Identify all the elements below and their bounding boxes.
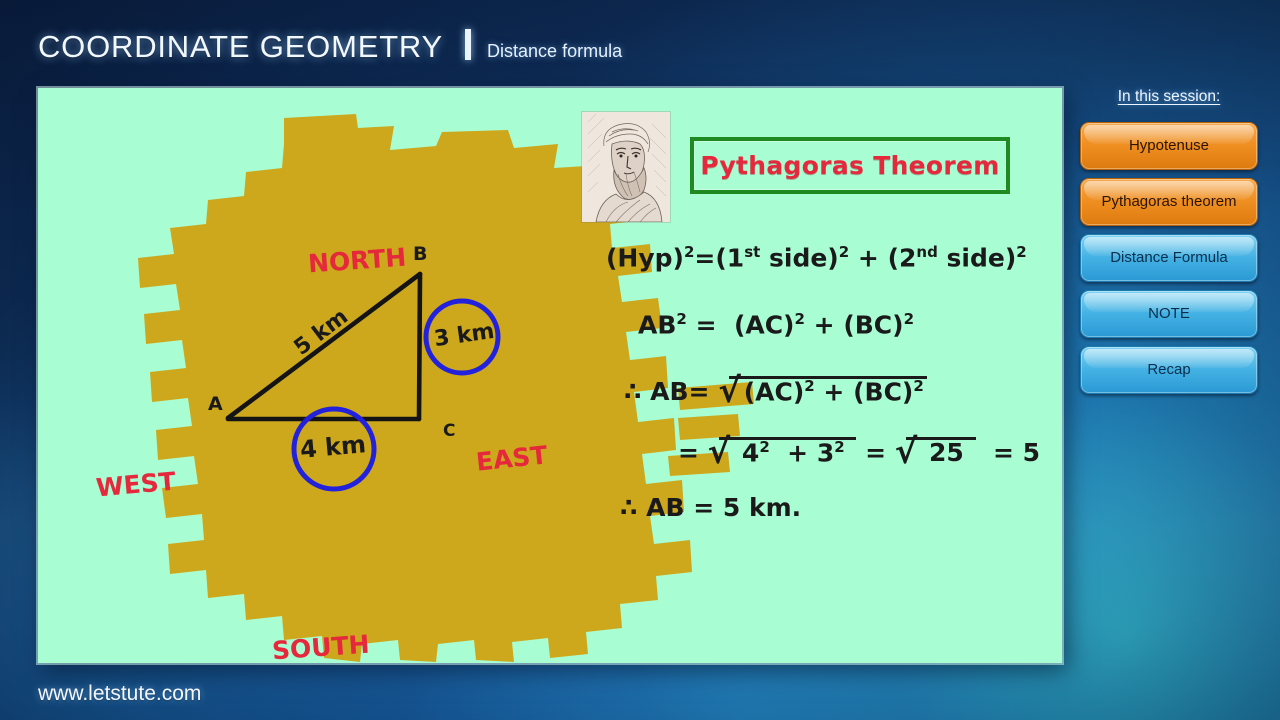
eq4-plus: + xyxy=(787,438,808,467)
eq3-r2: (BC) xyxy=(853,377,913,406)
equation-line-1: (Hyp)2=(1st side)2 + (2nd side)2 xyxy=(606,243,1027,272)
vertical-bar-icon xyxy=(465,29,471,60)
eq2-plus: + xyxy=(814,310,835,339)
equation-line-3: ∴ AB= √(AC)2 + (BC)2 xyxy=(624,375,927,406)
eq4-a: 4 xyxy=(742,438,759,467)
sidebar-item-label: Recap xyxy=(1141,358,1196,382)
eq1-t1-exp: st xyxy=(744,243,760,261)
eq2-t1-exp: 2 xyxy=(794,310,804,328)
vertex-label-a: A xyxy=(208,393,223,415)
eq3-lhs: AB xyxy=(650,377,688,406)
header-title-group: COORDINATE GEOMETRY Distance formula xyxy=(38,26,622,65)
eq1-lhs-exp: 2 xyxy=(684,243,694,261)
theorem-title-text: Pythagoras Theorem xyxy=(694,141,1006,190)
page-title: COORDINATE GEOMETRY xyxy=(38,29,443,65)
eq3-r1-exp: 2 xyxy=(804,377,814,395)
pythagoras-portrait xyxy=(582,112,670,222)
eq4-equals-2: = xyxy=(865,438,886,467)
sidebar-item-recap[interactable]: Recap xyxy=(1080,346,1258,394)
eq1-lhs: (Hyp) xyxy=(606,243,684,272)
theorem-title-box: Pythagoras Theorem xyxy=(690,137,1010,194)
vertex-label-c: C xyxy=(443,421,455,441)
eq4-radical-group-1: √ 42 + 32 xyxy=(708,436,857,467)
eq3-r2-exp: 2 xyxy=(913,377,923,395)
eq3-radical-sign: √ xyxy=(718,377,741,404)
eq1-t1: (1 xyxy=(715,243,744,272)
sidebar-item-pythagoras-theorem[interactable]: Pythagoras theorem xyxy=(1080,178,1258,226)
eq4-radical-bar-2 xyxy=(906,437,976,440)
sidebar-item-label: Pythagoras theorem xyxy=(1095,190,1242,214)
equation-line-4: = √ 42 + 32 = √ 25 = 5 xyxy=(678,436,1040,467)
eq4-radical-bar-1 xyxy=(719,437,857,440)
eq1-t3: (2 xyxy=(888,243,917,272)
eq4-a-exp: 2 xyxy=(759,438,769,456)
eq3-equals: = xyxy=(689,377,710,406)
eq4-radical-sign-2: √ xyxy=(895,438,918,465)
eq5-text: AB = 5 km. xyxy=(646,493,801,522)
header-bar: COORDINATE GEOMETRY Distance formula xyxy=(0,0,1280,86)
eq4-equals-1: = xyxy=(678,438,699,467)
compass-label-south: SOUTH xyxy=(271,630,370,663)
page-subtitle: Distance formula xyxy=(487,41,622,62)
session-sidebar: In this session: Hypotenuse Pythagoras t… xyxy=(1076,88,1262,402)
eq1-t4: side) xyxy=(938,243,1016,272)
sidebar-item-distance-formula[interactable]: Distance Formula xyxy=(1080,234,1258,282)
eq2-t2-exp: 2 xyxy=(904,310,914,328)
eq1-equals: = xyxy=(694,243,715,272)
eq4-equals-3: = xyxy=(993,438,1014,467)
sidebar-item-label: Distance Formula xyxy=(1104,246,1234,270)
eq1-plus: + xyxy=(858,243,879,272)
eq2-equals: = xyxy=(696,310,717,339)
eq3-r1: (AC) xyxy=(744,377,805,406)
triangle-vertical-side xyxy=(419,274,420,419)
equation-line-2: AB2 = (AC)2 + (BC)2 xyxy=(638,310,914,339)
session-heading: In this session: xyxy=(1076,88,1262,106)
sidebar-item-label: NOTE xyxy=(1142,302,1196,326)
equation-line-5: ∴ AB = 5 km. xyxy=(620,493,801,522)
eq2-t2: (BC) xyxy=(843,310,903,339)
eq4-b: 3 xyxy=(817,438,834,467)
eq1-t3-exp: nd xyxy=(916,243,937,261)
eq4-c: 25 xyxy=(929,438,964,467)
side-label-base: 4 km xyxy=(299,430,367,464)
eq4-b-exp: 2 xyxy=(834,438,844,456)
sidebar-item-note[interactable]: NOTE xyxy=(1080,290,1258,338)
eq3-radical-bar xyxy=(729,376,927,379)
eq4-radical-group-2: √ 25 xyxy=(895,436,976,467)
eq2-lhs-exp: 2 xyxy=(676,310,686,328)
eq4-radical-sign-1: √ xyxy=(708,438,731,465)
eq1-t4-exp: 2 xyxy=(1016,243,1026,261)
eq2-t1: (AC) xyxy=(734,310,795,339)
eq1-t2: side) xyxy=(760,243,838,272)
eq3-therefore: ∴ xyxy=(624,377,641,406)
eq3-plus: + xyxy=(823,377,844,406)
footer-url: www.letstute.com xyxy=(38,682,201,706)
eq5-therefore: ∴ xyxy=(620,493,637,522)
eq4-d: 5 xyxy=(1023,438,1040,467)
eq1-t2-exp: 2 xyxy=(839,243,849,261)
eq3-radical-group: √(AC)2 + (BC)2 xyxy=(718,375,927,406)
vertex-label-b: B xyxy=(413,243,427,265)
sidebar-item-label: Hypotenuse xyxy=(1123,134,1215,158)
sidebar-item-hypotenuse[interactable]: Hypotenuse xyxy=(1080,122,1258,170)
portrait-engraving-icon xyxy=(582,112,670,222)
eq2-lhs: AB xyxy=(638,310,676,339)
